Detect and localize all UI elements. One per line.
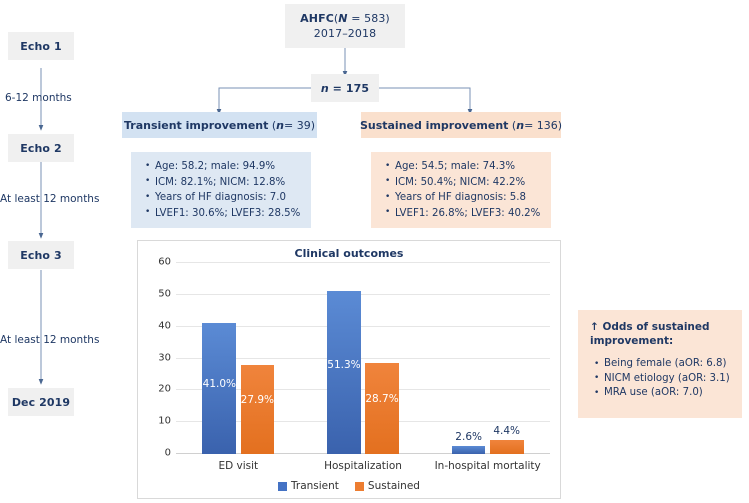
eligible-n-var: n [321,82,329,95]
chart-title: Clinical outcomes [138,247,560,260]
chart-bar-value-label: 2.6% [455,431,482,443]
legend-item-transient: Transient [278,480,339,492]
x-axis-tick-label: ED visit [218,460,258,472]
chart-bar-sustained-hospitalization: 28.7% [365,363,399,454]
list-item: Age: 58.2; male: 94.9% [155,159,305,175]
chart-bar-transient-in-hospital-mortality: 2.6% [452,446,486,454]
y-axis-tick-label: 50 [158,288,171,299]
y-axis-tick-label: 30 [158,352,171,363]
chart-bar-value-label: 51.3% [327,359,360,371]
cohort-box: AHFC(N = 583) 2017–2018 [285,4,405,48]
group-header-n-value: = 136 [524,119,558,132]
flowchart-canvas: Echo 1 6-12 months Echo 2 At least 12 mo… [0,0,749,503]
group-header-transient: Transient improvement (n = 39) [122,112,317,138]
chart-bar-value-label: 41.0% [203,378,236,390]
list-item: Age: 54.5; male: 74.3% [395,159,545,175]
group-header-n-value: = 39 [284,119,311,132]
group-header-sustained: Sustained improvement (n = 136) [361,112,561,138]
legend-item-sustained: Sustained [355,480,420,492]
timeline-node-label: Echo 1 [20,40,62,53]
y-axis-tick-label: 10 [158,416,171,427]
cohort-title-line: AHFC(N = 583) [300,11,390,26]
group-bullet-list: Age: 54.5; male: 74.3% ICM: 50.4%; NICM:… [373,159,545,221]
chart-plot-area: 010203040506041.0%27.9%ED visit51.3%28.7… [176,263,550,454]
eligible-box: n = 175 [311,74,379,102]
timeline-interval-2: At least 12 months [0,193,99,205]
chart-bar-value-label: 4.4% [493,425,520,437]
odds-of-sustained-improvement-box: ↑ Odds of sustained improvement: Being f… [578,310,742,418]
list-item: Being female (aOR: 6.8) [604,357,734,372]
list-item: ICM: 50.4%; NICM: 42.2% [395,175,545,191]
y-axis-tick-label: 0 [165,448,171,459]
arrow-eligible-sustained [379,88,470,112]
group-details-sustained: Age: 54.5; male: 74.3% ICM: 50.4%; NICM:… [371,152,551,228]
list-item: LVEF1: 30.6%; LVEF3: 28.5% [155,206,305,222]
legend-label: Sustained [368,480,420,492]
x-axis-tick-label: In-hospital mortality [435,460,541,472]
cohort-n-var: N [338,12,347,25]
cohort-title: AHFC [300,12,334,25]
chart-legend: Transient Sustained [138,480,560,492]
group-header-n-var: n [276,119,284,132]
eligible-line: n = 175 [321,82,369,95]
chart-gridline: 60 [176,262,550,263]
list-item: ICM: 82.1%; NICM: 12.8% [155,175,305,191]
list-item: MRA use (aOR: 7.0) [604,386,734,401]
cohort-years: 2017–2018 [314,26,376,41]
list-item: Years of HF diagnosis: 5.8 [395,190,545,206]
odds-title-line-2: improvement: [590,335,673,347]
arrow-eligible-transient [219,88,311,112]
list-item: LVEF1: 26.8%; LVEF3: 40.2% [395,206,545,222]
timeline-interval-3: At least 12 months [0,334,99,346]
group-header-n-var: n [516,119,524,132]
timeline-node-echo-2: Echo 2 [8,134,74,162]
legend-label: Transient [291,480,339,492]
legend-swatch-icon [278,482,287,491]
group-header-label: Transient improvement [124,119,268,132]
odds-title-line-1: ↑ Odds of sustained [590,321,710,333]
chart-bar-value-label: 28.7% [365,393,398,405]
group-bullet-list: Age: 58.2; male: 94.9% ICM: 82.1%; NICM:… [133,159,305,221]
y-axis-tick-label: 20 [158,384,171,395]
list-item: Years of HF diagnosis: 7.0 [155,190,305,206]
chart-gridline: 50 [176,294,550,295]
y-axis-tick-label: 60 [158,257,171,268]
timeline-node-dec-2019: Dec 2019 [8,388,74,416]
eligible-n-value: = 175 [329,82,369,95]
chart-bar-value-label: 27.9% [241,394,274,406]
chart-bar-sustained-ed-visit: 27.9% [241,365,275,454]
list-item: NICM etiology (aOR: 3.1) [604,372,734,387]
chart-bar-transient-ed-visit: 41.0% [202,323,236,454]
timeline-node-label: Dec 2019 [12,396,70,409]
group-header-label: Sustained improvement [360,119,508,132]
timeline-node-echo-1: Echo 1 [8,32,74,60]
chart-bar-transient-hospitalization: 51.3% [327,291,361,454]
timeline-node-label: Echo 3 [20,249,62,262]
odds-list: Being female (aOR: 6.8) NICM etiology (a… [584,357,734,401]
legend-swatch-icon [355,482,364,491]
group-details-transient: Age: 58.2; male: 94.9% ICM: 82.1%; NICM:… [131,152,311,228]
timeline-node-label: Echo 2 [20,142,62,155]
timeline-interval-1: 6-12 months [5,92,72,104]
chart-bar-sustained-in-hospital-mortality: 4.4% [490,440,524,454]
odds-title: ↑ Odds of sustained improvement: [584,320,734,348]
clinical-outcomes-chart: Clinical outcomes 010203040506041.0%27.9… [137,240,561,499]
y-axis-tick-label: 40 [158,320,171,331]
cohort-n-value: = 583) [348,12,390,25]
timeline-node-echo-3: Echo 3 [8,241,74,269]
x-axis-tick-label: Hospitalization [324,460,402,472]
